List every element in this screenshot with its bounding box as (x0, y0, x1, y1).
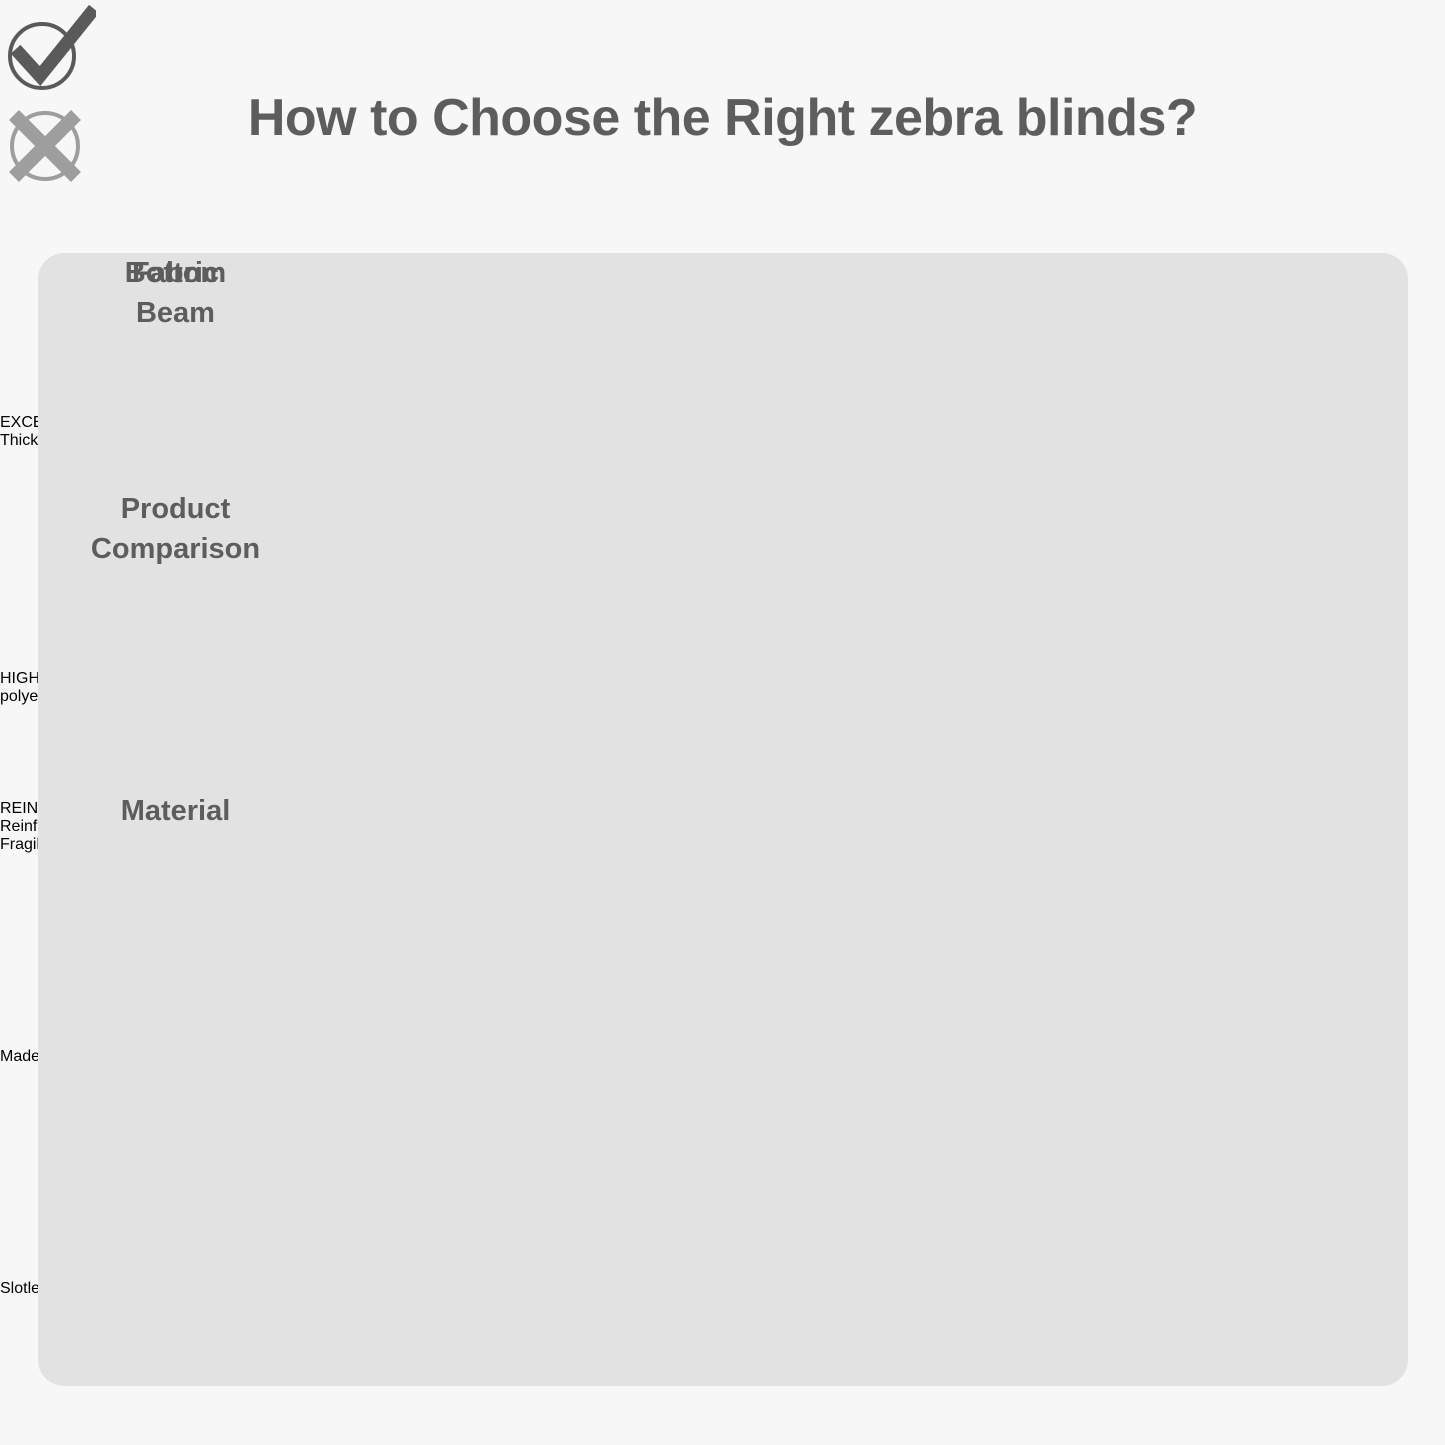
sidebar-row-material: Material (38, 721, 313, 901)
sidebar-label-material: Material (121, 791, 231, 831)
page-title: How to Choose the Right zebra blinds? (0, 88, 1445, 148)
comparison-infographic: How to Choose the Right zebra blinds? Pr… (0, 0, 1445, 1445)
sidebar-row-bottom-beam: BottomBeam (38, 253, 313, 333)
sidebar-row-product-comparison: ProductComparison (38, 429, 313, 629)
check-circle-icon (0, 0, 1445, 101)
sidebar-label-product-comparison: ProductComparison (91, 489, 260, 569)
category-sidebar: ProductComparison Material Fabric Bottom… (38, 253, 313, 1386)
sidebar-label-bottom-beam: BottomBeam (125, 253, 226, 333)
